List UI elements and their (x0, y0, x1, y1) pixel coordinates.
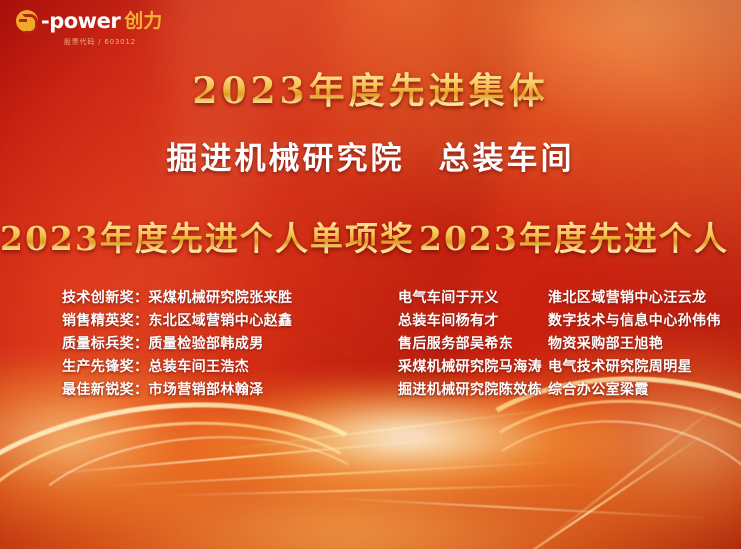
award-lists: 技术创新奖：采煤机械研究院张来胜 销售精英奖：东北区域营销中心赵鑫 质量标兵奖：… (0, 287, 741, 402)
c-power-circle-icon (16, 10, 38, 32)
section-headings: 2023年度先进个人单项奖 2023年度先进个人 (0, 212, 741, 260)
individual-name: 总装车间杨有才 (398, 310, 548, 333)
section-heading-individual-awards: 2023年度先进个人单项奖 (0, 212, 415, 260)
list-item: 质量标兵奖：质量检验部韩成男 (62, 333, 392, 356)
list-item: 最佳新锐奖：市场营销部林翰泽 (62, 379, 392, 402)
individual-name: 综合办公室梁霞 (548, 379, 741, 402)
award-poster: -power 创力 股票代码 / 603012 2023年度先进集体 掘进机械研… (0, 0, 741, 549)
page-subtitle: 掘进机械研究院 总装车间 (0, 133, 741, 178)
list-item: 采煤机械研究院马海涛 电气技术研究院周明星 (398, 356, 741, 379)
individual-name: 掘进机械研究院陈效栋 (398, 379, 548, 402)
company-logo: -power 创力 股票代码 / 603012 (16, 10, 162, 47)
list-item: 掘进机械研究院陈效栋 综合办公室梁霞 (398, 379, 741, 402)
individual-name: 售后服务部吴希东 (398, 333, 548, 356)
list-item: 总装车间杨有才 数字技术与信息中心孙伟伟 (398, 310, 741, 333)
logo-wordmark: -power (41, 11, 120, 32)
individual-name: 采煤机械研究院马海涛 (398, 356, 548, 379)
logo-row: -power 创力 (16, 10, 162, 32)
individual-name: 淮北区域营销中心汪云龙 (548, 287, 741, 310)
page-title: 2023年度先进集体 (0, 62, 741, 114)
list-item: 售后服务部吴希东 物资采购部王旭艳 (398, 333, 741, 356)
individual-name: 物资采购部王旭艳 (548, 333, 741, 356)
individual-name: 电气车间于开义 (398, 287, 548, 310)
list-item: 销售精英奖：东北区域营销中心赵鑫 (62, 310, 392, 333)
stock-code-label: 股票代码 / 603012 (64, 37, 136, 47)
logo-wordmark-cn: 创力 (124, 12, 162, 31)
individual-name: 电气技术研究院周明星 (548, 356, 741, 379)
individuals-column: 电气车间于开义 淮北区域营销中心汪云龙 总装车间杨有才 数字技术与信息中心孙伟伟… (392, 287, 741, 402)
individual-awards-column: 技术创新奖：采煤机械研究院张来胜 销售精英奖：东北区域营销中心赵鑫 质量标兵奖：… (0, 287, 392, 402)
list-item: 生产先锋奖：总装车间王浩杰 (62, 356, 392, 379)
individual-name: 数字技术与信息中心孙伟伟 (548, 310, 741, 333)
list-item: 电气车间于开义 淮北区域营销中心汪云龙 (398, 287, 741, 310)
section-heading-individuals: 2023年度先进个人 (415, 212, 741, 260)
list-item: 技术创新奖：采煤机械研究院张来胜 (62, 287, 392, 310)
